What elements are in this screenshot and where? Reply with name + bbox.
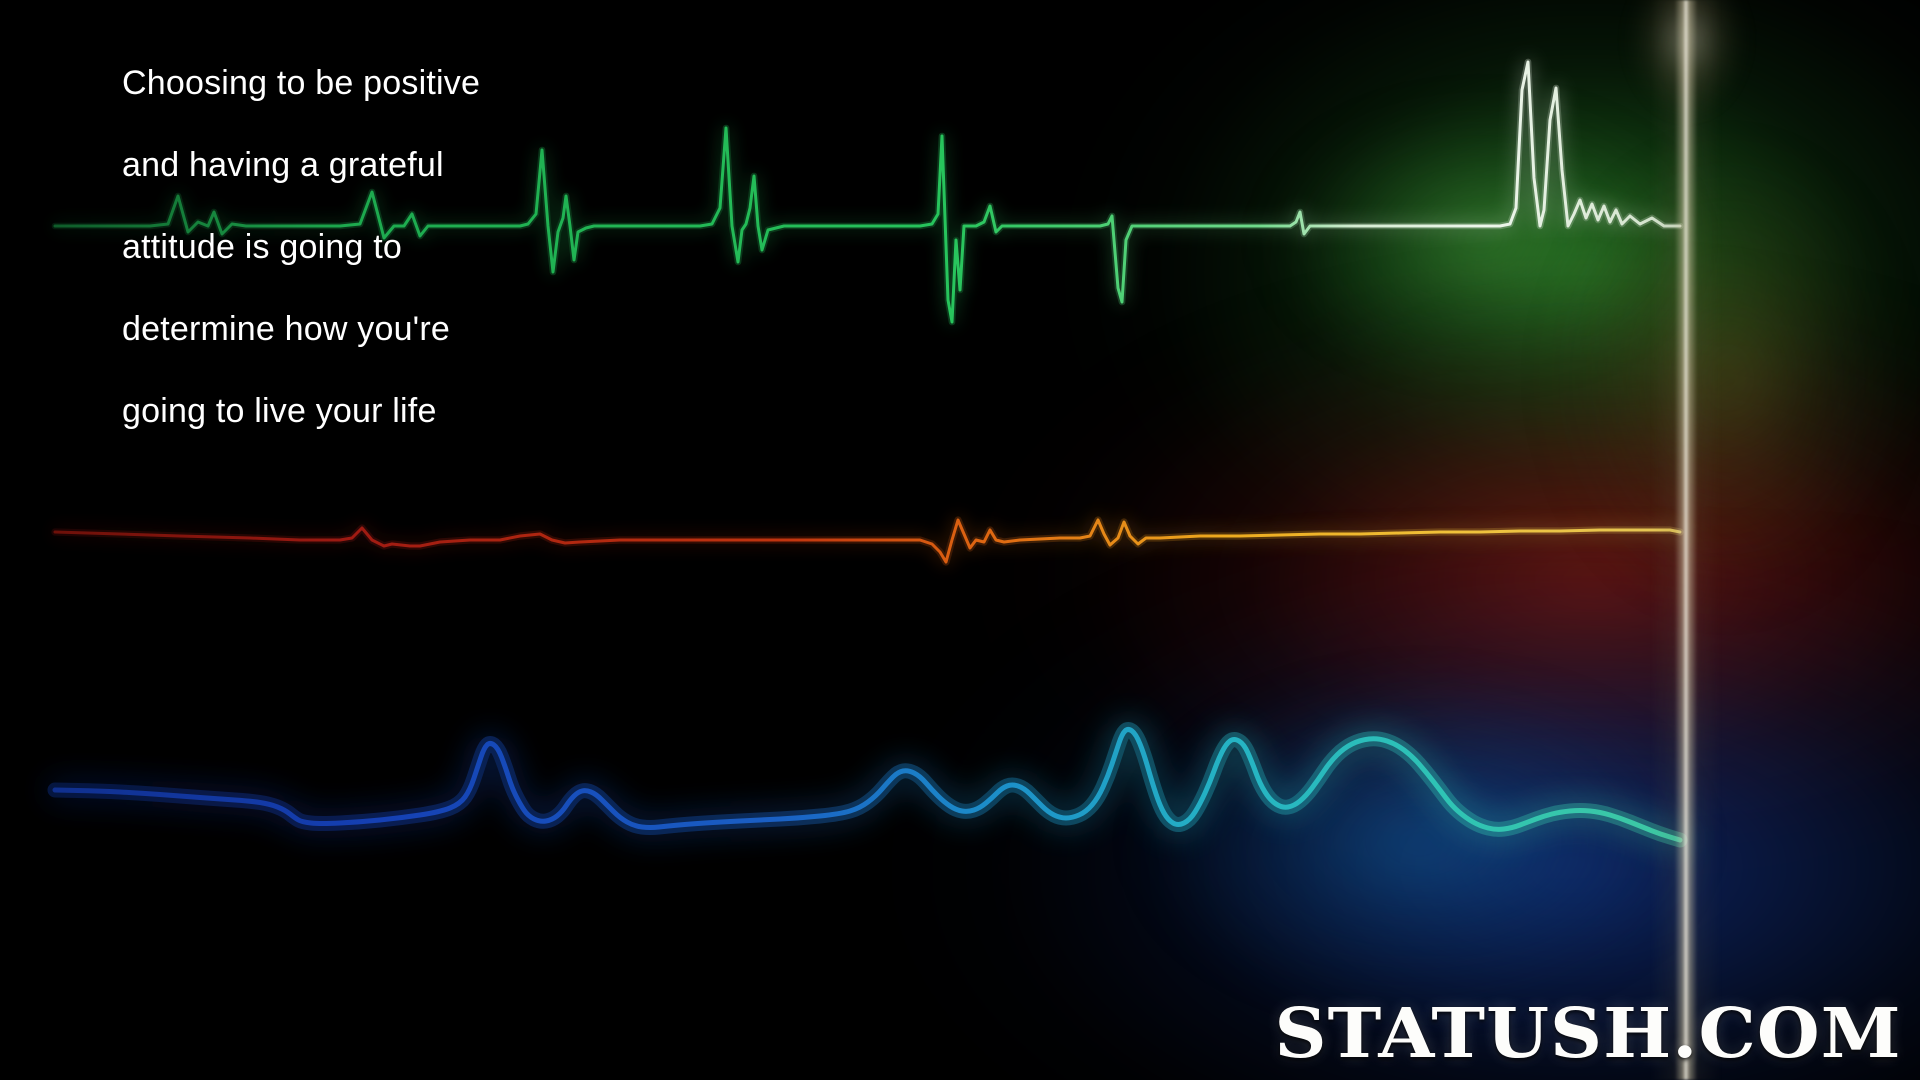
quote-line-3: attitude is going to	[122, 206, 882, 288]
red-glow	[760, 200, 1920, 960]
site-watermark: STATUSH.COM	[1275, 994, 1902, 1074]
wave-line-ecg-red	[55, 520, 1680, 562]
vertical-light-beam	[1650, 0, 1722, 1080]
quote-line-5: going to live your life	[122, 370, 882, 452]
green-glow	[880, 0, 1920, 560]
quote-line-2: and having a grateful	[122, 124, 882, 206]
amber-glow	[1560, 120, 1920, 680]
quote-text-block: Choosing to be positive and having a gra…	[122, 42, 882, 452]
beam-flare-icon	[1612, 0, 1762, 140]
quote-line-4: determine how you're	[122, 288, 882, 370]
wallpaper-canvas: Choosing to be positive and having a gra…	[0, 0, 1920, 1080]
wave-halo-ecg-red	[55, 520, 1680, 562]
wave-line-wave-blue	[55, 730, 1680, 841]
quote-line-1: Choosing to be positive	[122, 42, 882, 124]
green-band-glow	[1230, 40, 1750, 360]
wave-halo-wave-blue	[55, 730, 1680, 841]
